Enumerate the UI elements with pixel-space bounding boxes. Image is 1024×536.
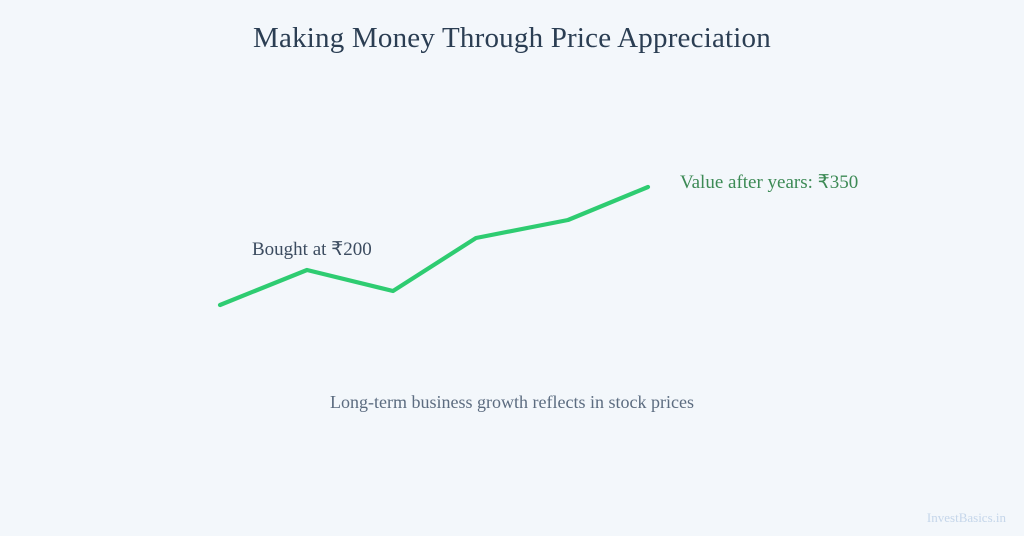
annotation-value-after-years: Value after years: ₹350	[680, 171, 858, 194]
price-appreciation-line-chart	[0, 0, 1024, 536]
watermark-label: InvestBasics.in	[927, 510, 1006, 526]
chart-caption: Long-term business growth reflects in st…	[0, 392, 1024, 413]
chart-canvas: Making Money Through Price Appreciation …	[0, 0, 1024, 536]
annotation-bought-at: Bought at ₹200	[252, 238, 372, 261]
